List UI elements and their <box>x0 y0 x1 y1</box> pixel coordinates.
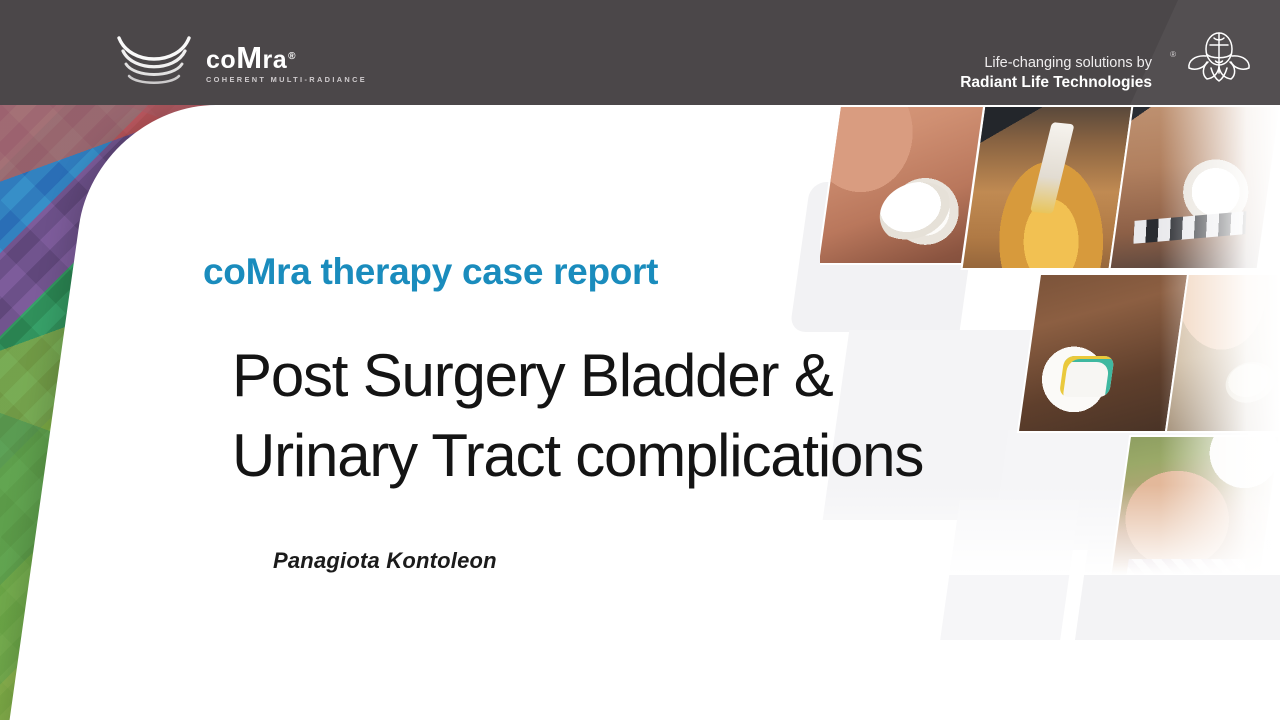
wordmark-m: M <box>236 42 262 73</box>
wordmark-co: co <box>206 48 236 73</box>
wordmark-ra: ra <box>263 48 288 73</box>
comra-wave-icon <box>116 36 192 88</box>
partner-tagline-line1: Life-changing solutions by <box>960 54 1152 73</box>
slide-title-line2: Urinary Tract complications <box>232 416 923 496</box>
partner-tagline-line2: Radiant Life Technologies <box>960 73 1152 93</box>
slide-author: Panagiota Kontoleon <box>273 548 497 574</box>
photo-back-laser-probe-image <box>960 105 1133 270</box>
comra-logo-lockup[interactable]: coMra® COHERENT MULTI-RADIANCE <box>116 36 367 88</box>
photo-neck-device-image <box>1017 273 1189 433</box>
photo-knee-applicator <box>1108 105 1280 270</box>
header-bar: coMra® COHERENT MULTI-RADIANCE Life-chan… <box>0 0 1280 105</box>
presentation-slide: coMra® COHERENT MULTI-RADIANCE Life-chan… <box>0 0 1280 720</box>
wordmark-registered-icon: ® <box>288 52 296 62</box>
photo-shoulder-applicator-image <box>820 105 985 265</box>
slide-title-line1: Post Surgery Bladder & <box>232 336 923 416</box>
slide-kicker: coMra therapy case report <box>203 251 658 293</box>
slide-title: Post Surgery Bladder & Urinary Tract com… <box>232 336 923 497</box>
comra-wordmark: coMra® COHERENT MULTI-RADIANCE <box>206 40 367 84</box>
comra-wordmark-tagline: COHERENT MULTI-RADIANCE <box>206 75 367 84</box>
photo-elderly-woman-head-image <box>1107 435 1280 575</box>
comra-wordmark-text: coMra® <box>206 42 367 73</box>
partner-tagline: Life-changing solutions by Radiant Life … <box>960 54 1152 94</box>
partner-registered-icon: ® <box>1170 50 1176 59</box>
photo-knee-applicator-image <box>1108 105 1280 270</box>
photo-shoulder-applicator <box>820 105 985 265</box>
photo-neck-device <box>1017 273 1189 433</box>
lotus-sword-logo-icon <box>1180 28 1258 84</box>
photo-elderly-woman-head <box>1107 435 1280 575</box>
photo-back-laser-probe <box>960 105 1133 270</box>
